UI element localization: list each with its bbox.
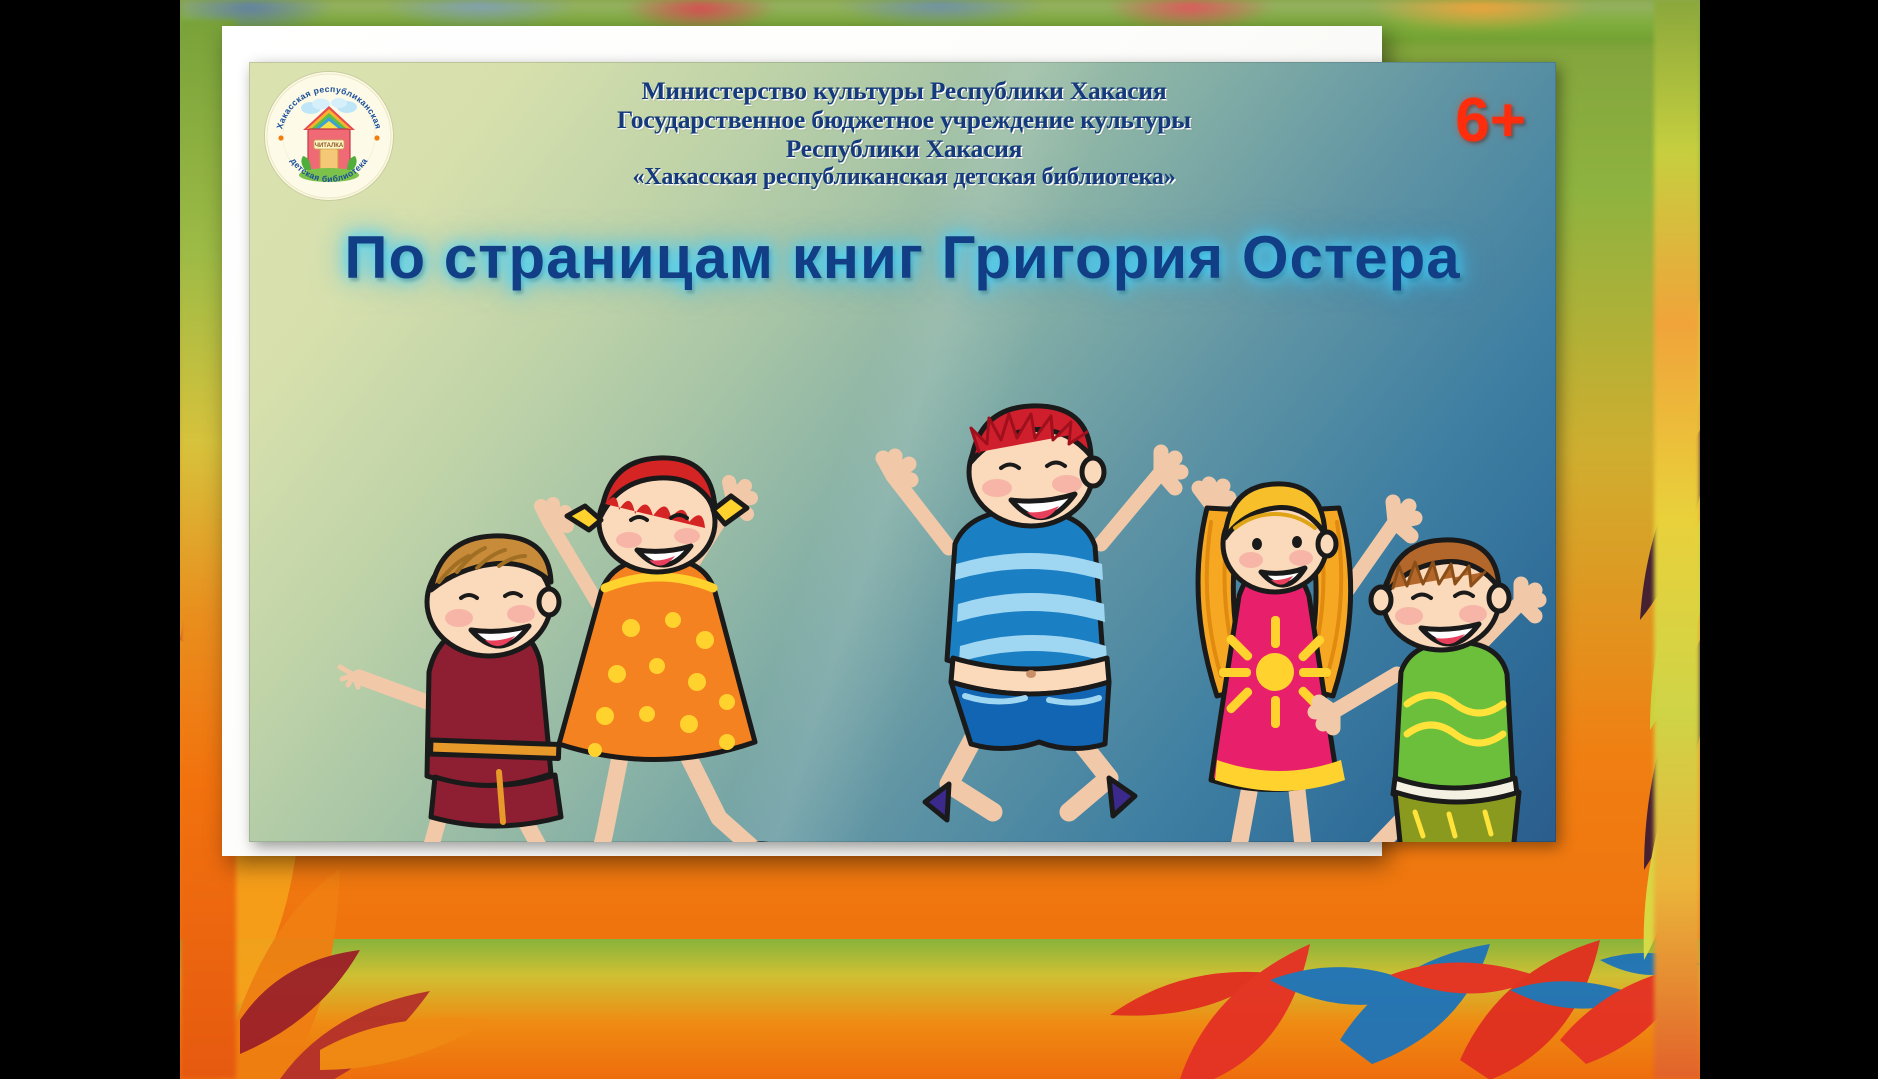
age-rating-badge: 6+ <box>1455 90 1526 152</box>
emblem-artwork: ЧИТАЛКА Хакасская республиканская детска… <box>265 72 393 200</box>
frame-right-band <box>1654 0 1700 1079</box>
org-line-1: Министерство культуры Республики Хакасия <box>504 76 1304 105</box>
org-line-4: «Хакасская республиканская детская библи… <box>504 163 1304 192</box>
library-emblem-logo: ЧИТАЛКА Хакасская республиканская детска… <box>265 72 393 200</box>
presentation-slide-viewer: ЧИТАЛКА Хакасская республиканская детска… <box>0 0 1878 1079</box>
org-line-3: Республики Хакасия <box>504 134 1304 163</box>
svg-text:ЧИТАЛКА: ЧИТАЛКА <box>315 143 344 149</box>
organization-header: Министерство культуры Республики Хакасия… <box>504 76 1304 192</box>
slide-canvas: ЧИТАЛКА Хакасская республиканская детска… <box>249 62 1556 842</box>
child-girl-pink <box>1193 484 1415 842</box>
child-boy-blue <box>883 406 1181 820</box>
child-girl-orange <box>541 458 796 842</box>
jumping-children-illustration <box>249 272 1556 842</box>
org-line-2: Государственное бюджетное учреждение кул… <box>504 105 1304 134</box>
